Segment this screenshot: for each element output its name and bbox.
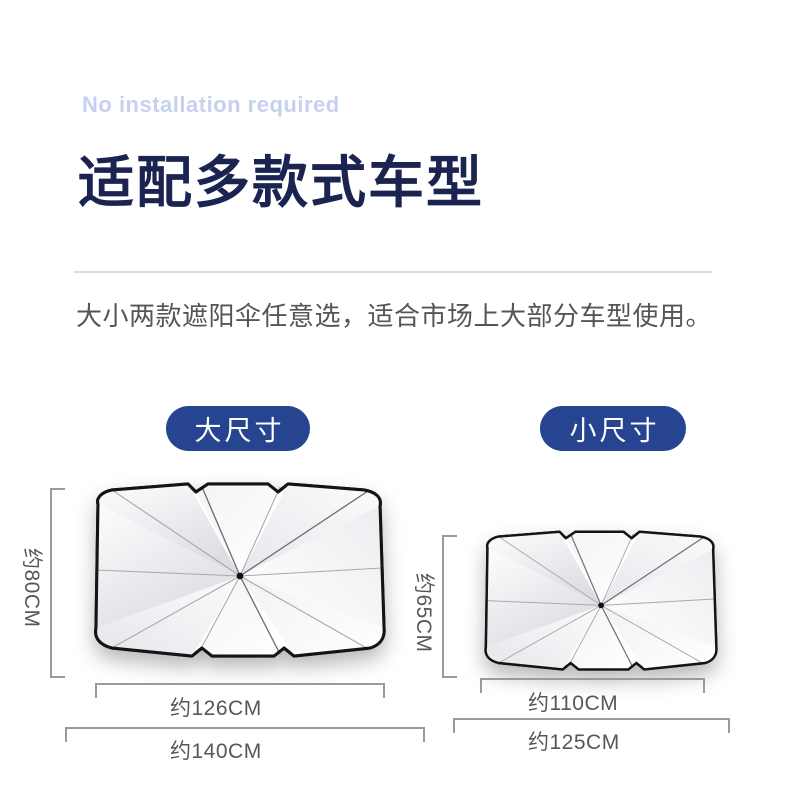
size-badge-small[interactable]: 小尺寸 bbox=[540, 406, 686, 451]
height-label-large: 约80CM bbox=[18, 548, 48, 628]
outer-width-label-large: 约140CM bbox=[170, 735, 262, 765]
outer-width-label-small: 约125CM bbox=[528, 726, 620, 756]
outer-width-bracket-small bbox=[453, 718, 730, 720]
size-badge-large[interactable]: 大尺寸 bbox=[166, 406, 310, 451]
header-divider bbox=[74, 271, 712, 273]
page-subtitle: 大小两款遮阳伞任意选，适合市场上大部分车型使用。 bbox=[76, 300, 712, 334]
inner-width-bracket-large bbox=[95, 683, 385, 685]
umbrella-svg-small bbox=[457, 527, 742, 687]
height-label-small: 约65CM bbox=[410, 573, 440, 653]
page-title: 适配多款式车型 bbox=[78, 155, 484, 211]
outer-width-bracket-large bbox=[65, 727, 425, 729]
product-panel-small: 约65CM bbox=[425, 515, 785, 755]
height-bracket-small bbox=[442, 535, 444, 678]
inner-width-label-small: 约110CM bbox=[528, 687, 618, 717]
height-bracket-large bbox=[50, 488, 52, 678]
sunshade-umbrella-large bbox=[68, 478, 408, 678]
umbrella-svg-large bbox=[68, 478, 408, 678]
inner-width-label-large: 约126CM bbox=[170, 692, 262, 722]
eyebrow-text: No installation required bbox=[82, 92, 340, 118]
product-panel-large: 约80CM bbox=[30, 470, 450, 760]
inner-width-bracket-small bbox=[480, 678, 705, 680]
sunshade-umbrella-small bbox=[457, 527, 742, 687]
